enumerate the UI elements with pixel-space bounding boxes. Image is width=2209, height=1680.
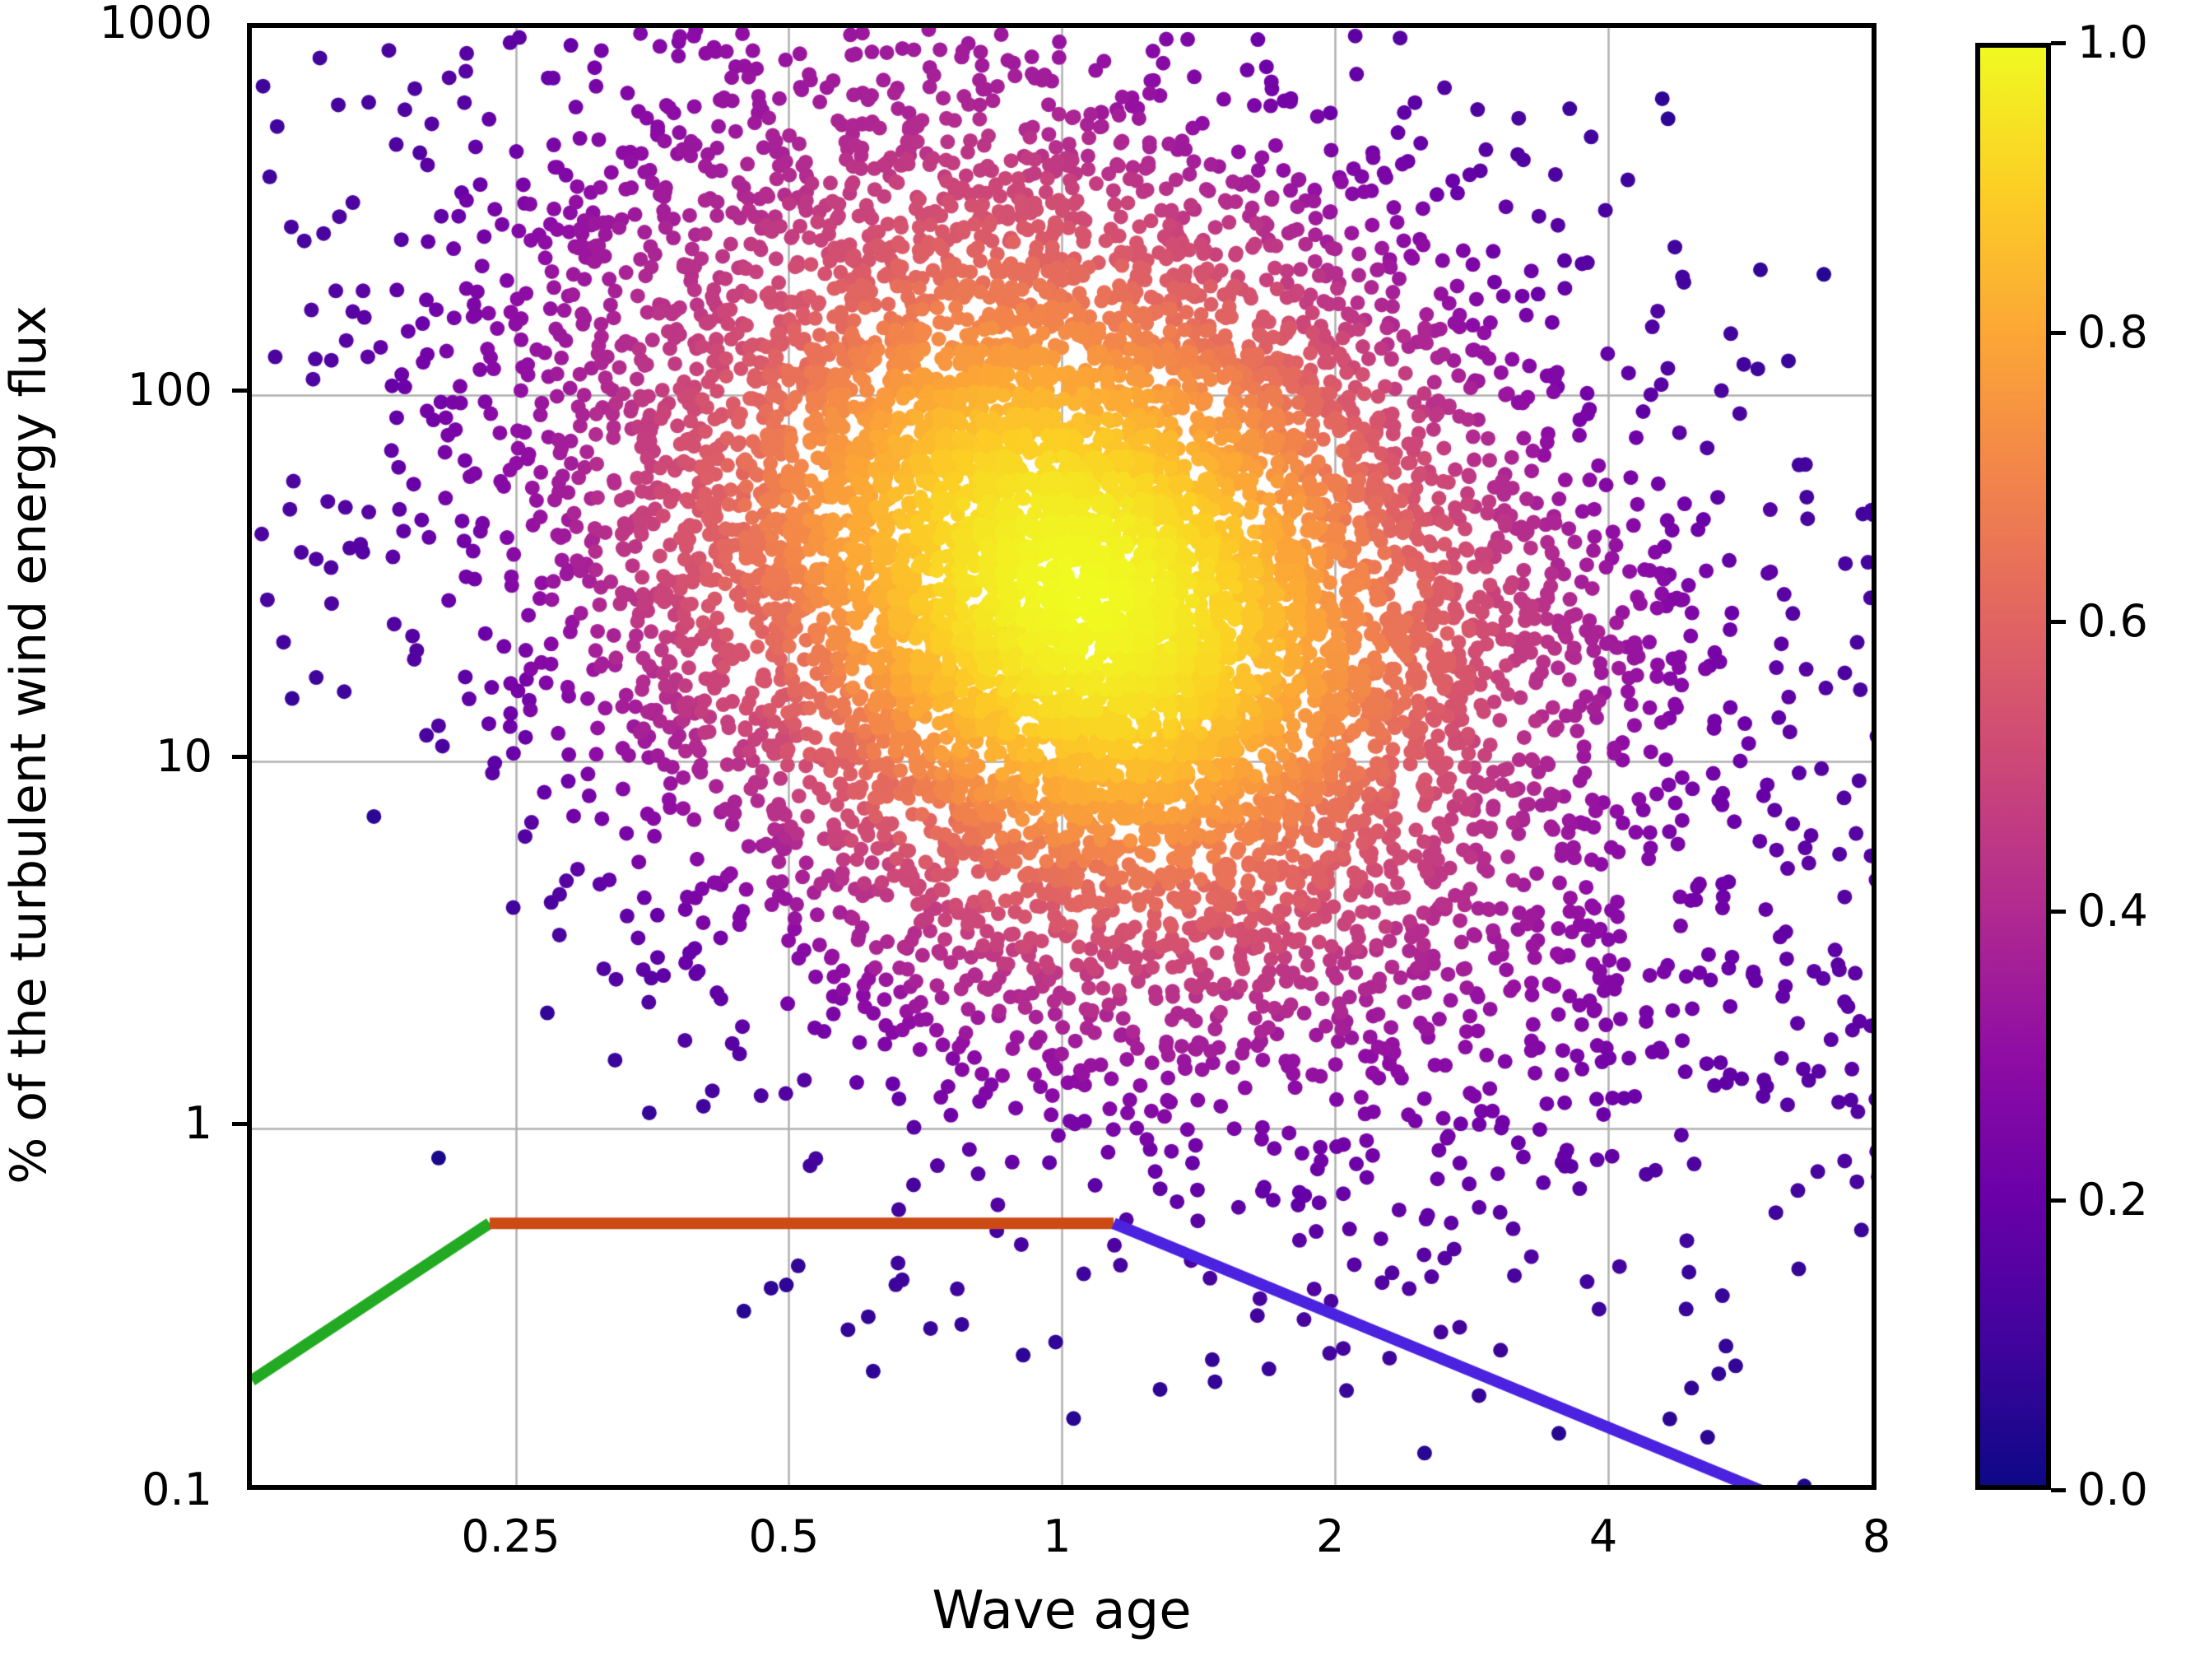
figure-root: % of the turbulent wind energy flux 0.11…: [0, 0, 2209, 1680]
plot-area[interactable]: [247, 23, 1876, 1490]
colorbar-tick-label-0.4: 0.4: [2077, 889, 2148, 933]
colorbar-tick-label-0.8: 0.8: [2077, 310, 2148, 355]
colorbar-tick-label-0.6: 0.6: [2077, 599, 2148, 644]
colorbar-tick-mark: [2051, 1488, 2066, 1492]
x-tick-label-0.25: 0.25: [461, 1515, 560, 1559]
x-tick-label-1: 1: [1043, 1515, 1071, 1559]
y-tick-label-1000: 1000: [33, 1, 212, 45]
colorbar-tick-label-0.0: 0.0: [2077, 1468, 2148, 1512]
colorbar-tick-mark: [2051, 620, 2066, 624]
y-tick-label-10: 10: [33, 734, 212, 779]
colorbar-tick-mark: [2051, 910, 2066, 914]
y-tick-mark: [232, 389, 247, 393]
colorbar-tick-mark: [2051, 41, 2066, 45]
colorbar-tick-label-1.0: 1.0: [2077, 21, 2148, 65]
x-tick-label-2: 2: [1316, 1515, 1344, 1559]
y-tick-label-1: 1: [33, 1101, 212, 1146]
colorbar-tick-mark: [2051, 1198, 2066, 1203]
scatter-points: [252, 28, 1876, 1490]
y-tick-mark: [232, 1122, 247, 1126]
y-tick-label-0.1: 0.1: [33, 1468, 212, 1512]
colorbar-tick-mark: [2051, 331, 2066, 335]
y-tick-label-100: 100: [33, 368, 212, 412]
x-tick-label-4: 4: [1589, 1515, 1617, 1559]
x-tick-label-0.5: 0.5: [748, 1515, 819, 1559]
x-axis-title: Wave age: [247, 1580, 1876, 1641]
colorbar-gradient: [1980, 48, 2046, 1485]
colorbar[interactable]: [1975, 43, 2051, 1490]
x-tick-label-8: 8: [1863, 1515, 1890, 1559]
colorbar-tick-label-0.2: 0.2: [2077, 1178, 2148, 1222]
y-tick-mark: [232, 755, 247, 759]
